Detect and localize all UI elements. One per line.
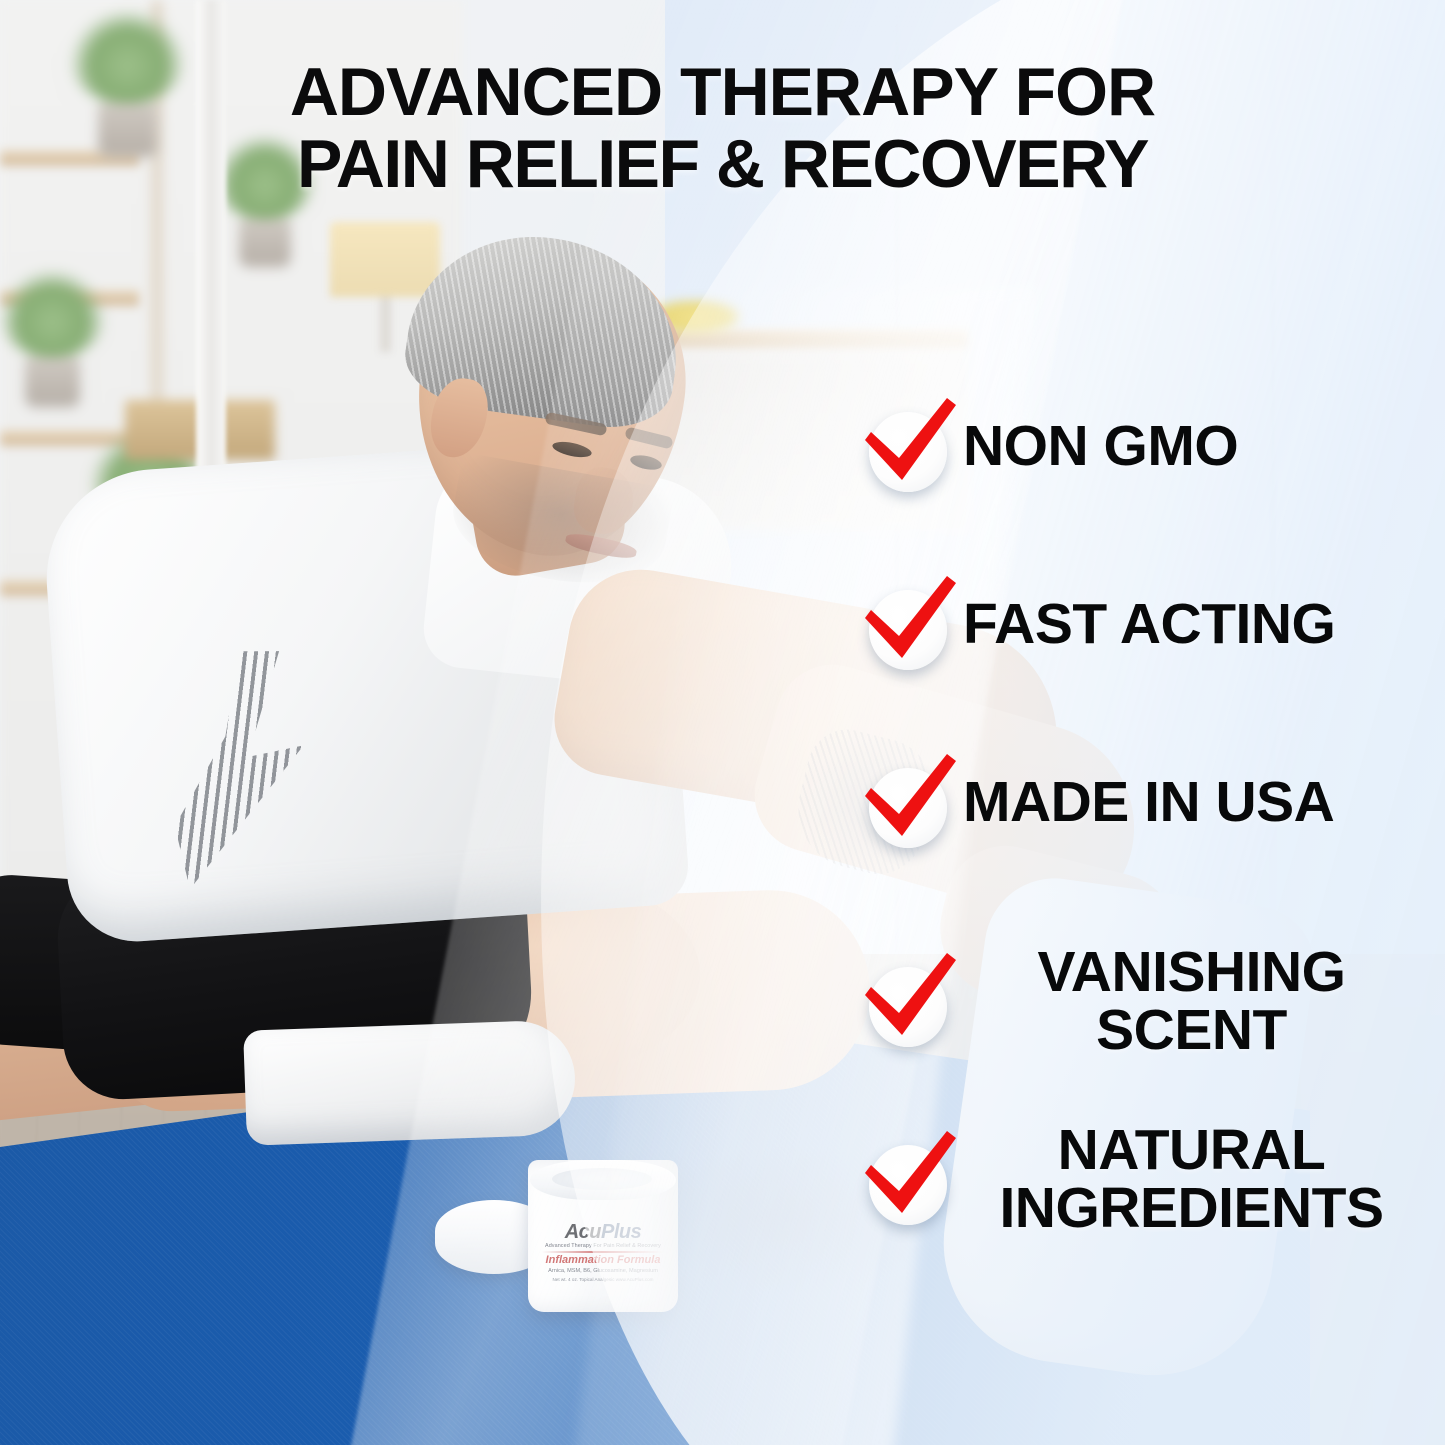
benefit-item-made-in-usa: MADE IN USA — [855, 748, 1440, 856]
red-check-icon — [855, 570, 963, 678]
jar-rim-inner — [552, 1168, 652, 1190]
red-check-icon — [855, 392, 963, 500]
benefit-text-line-2: INGREDIENTS — [963, 1179, 1420, 1237]
benefit-text-line-1: MADE IN USA — [963, 770, 1334, 834]
benefit-text-line-2: SCENT — [963, 1001, 1420, 1059]
check-badge — [855, 1125, 963, 1233]
check-badge — [855, 392, 963, 500]
red-check-icon — [855, 748, 963, 856]
red-check-icon — [855, 1125, 963, 1233]
benefit-label: MADE IN USA — [963, 773, 1440, 831]
check-badge — [855, 947, 963, 1055]
red-check-icon — [855, 947, 963, 1055]
product-feature-poster: AcuPlus Advanced Therapy For Pain Relief… — [0, 0, 1445, 1445]
check-badge — [855, 748, 963, 856]
benefit-label: FAST ACTING — [963, 595, 1440, 653]
benefit-item-vanishing-scent: VANISHING SCENT — [855, 926, 1440, 1076]
headline-line-2: PAIN RELIEF & RECOVERY — [0, 128, 1445, 200]
benefit-label: NON GMO — [963, 417, 1440, 475]
headline-line-1: ADVANCED THERAPY FOR — [0, 56, 1445, 128]
jar-label: AcuPlus Advanced Therapy For Pain Relief… — [534, 1222, 672, 1294]
benefit-text-line-1: FAST ACTING — [963, 592, 1335, 656]
product-brand: AcuPlus — [534, 1222, 672, 1242]
benefits-list: NON GMO FAST ACTING MADE IN US — [855, 392, 1440, 1282]
benefit-text-line-1: NATURAL — [963, 1121, 1420, 1179]
benefit-text-line-1: NON GMO — [963, 414, 1238, 478]
product-formula: Inflammation Formula — [534, 1255, 672, 1266]
brand-prefix: Acu — [565, 1221, 601, 1243]
product-jar: AcuPlus Advanced Therapy For Pain Relief… — [528, 1160, 678, 1312]
product-footer: Net wt. 4 oz. Topical Analgesic www.AcuP… — [534, 1278, 672, 1283]
product-ingredients: Arnica, MSM, B6, Glucosamine, Magnesium — [534, 1269, 672, 1275]
label-divider — [542, 1251, 664, 1253]
near-sock — [243, 1019, 577, 1145]
brand-suffix: Plus — [601, 1221, 641, 1243]
check-badge — [855, 570, 963, 678]
benefit-text-line-1: VANISHING — [963, 943, 1420, 1001]
benefit-item-natural-ingredients: NATURAL INGREDIENTS — [855, 1104, 1440, 1254]
benefit-label: NATURAL INGREDIENTS — [963, 1121, 1440, 1237]
headline: ADVANCED THERAPY FOR PAIN RELIEF & RECOV… — [0, 56, 1445, 200]
benefit-item-fast-acting: FAST ACTING — [855, 570, 1440, 678]
product-tagline: Advanced Therapy For Pain Relief & Recov… — [534, 1244, 672, 1249]
benefit-item-non-gmo: NON GMO — [855, 392, 1440, 500]
benefit-label: VANISHING SCENT — [963, 943, 1440, 1059]
